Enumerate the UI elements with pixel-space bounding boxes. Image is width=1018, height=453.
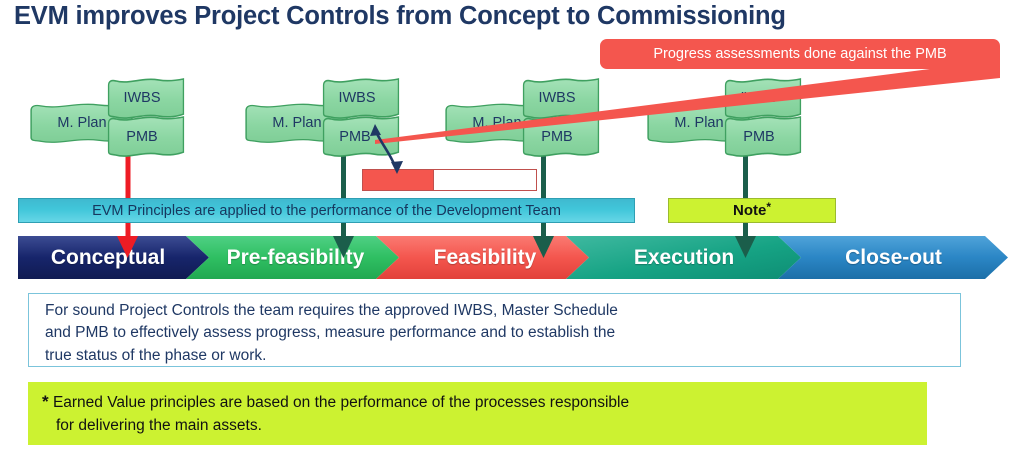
arrowhead-feasibility [533,236,554,258]
arrowhead-pre-feasibility [333,236,354,258]
slide-canvas: EVM improves Project Controls from Conce… [0,0,1018,453]
arrowhead-execution [735,236,756,258]
arrowhead-conceptual [117,236,138,258]
pole-arrowhead-layer [0,0,1018,453]
